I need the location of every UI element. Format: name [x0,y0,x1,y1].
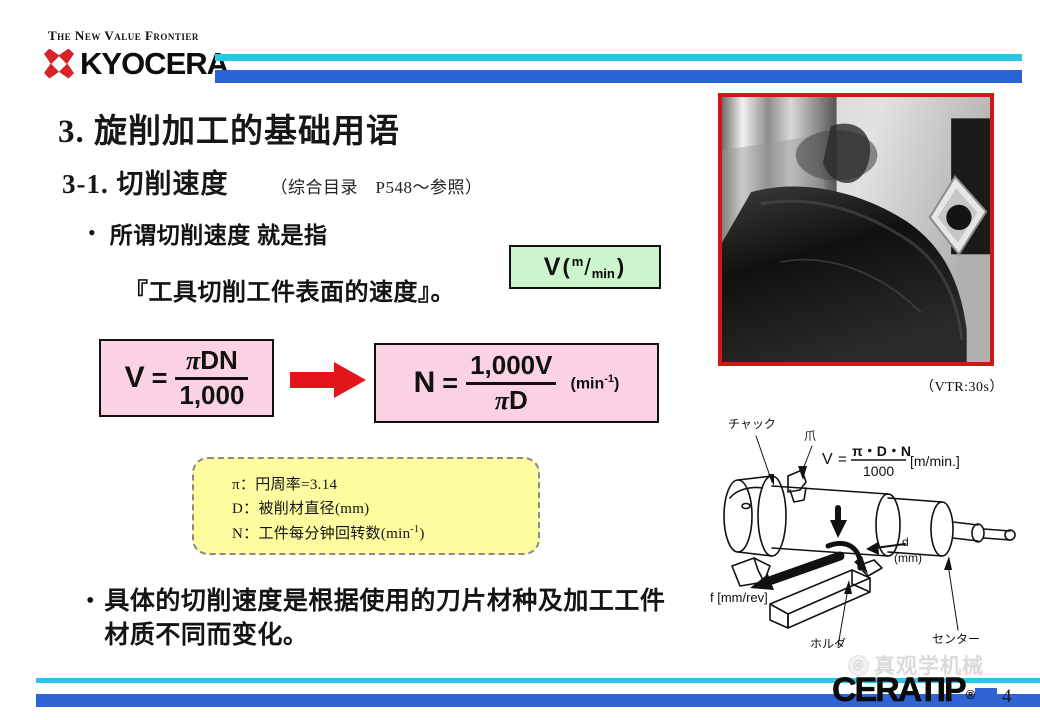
kyocera-diamond-icon [44,49,74,79]
formula-n-fraction: 1,000V πD [466,352,556,414]
unit-fraction: m / min [572,254,615,281]
formula-v-numerator-rest: DN [200,345,238,375]
legend-description: 工件每分钟回转数(min [258,526,410,542]
kyocera-tagline: The New Value Frontier [48,28,199,44]
photo-caption: （VTR:30s） [892,376,1032,396]
bullet-block-top: • 所谓切削速度 就是指 『工具切削工件表面的速度』。 [88,216,518,307]
formula-n-equals: = [442,368,458,399]
legend-line-n: N：工件每分钟回转数(min-1) [232,522,538,546]
formula-v-lhs: V [125,361,145,395]
legend-separator: ： [243,501,258,517]
subtitle: 3-1. 切削速度 [62,162,229,201]
paren-open: ( [562,254,569,280]
paren-close: ) [617,254,624,280]
formula-n-unit-close: ) [614,375,619,392]
header-bar-cyan [215,54,1022,61]
velocity-symbol: V [544,253,561,282]
ceratip-logo: CERATIP ® [832,676,975,705]
legend-tail: ) [419,526,424,542]
unit-denominator: min [592,266,615,281]
kyocera-wordmark: KYOCERA [80,48,228,79]
turning-operation-photo [718,93,994,366]
page-title: 3. 旋削加工的基础用语 [58,104,400,152]
diagram-formula-lhs: V [822,451,833,468]
bullet-top-line1: 所谓切削速度 就是指 [110,216,328,250]
diagram-label-center: センター [932,632,980,646]
diagram-label-chuck: チャック [728,417,776,431]
diagram-formula-unit: [m/min.] [910,453,960,469]
legend-line-d: D：被削材直径(mm) [232,497,538,521]
header-bar-blue [215,70,1022,83]
formula-n-numerator: 1,000V [466,352,556,379]
formula-n-denominator-rest: D [509,385,528,415]
red-right-arrow-icon [290,362,366,398]
arrow-shaft [290,372,338,388]
legend-exponent: -1 [410,524,419,535]
legend-separator: ： [243,526,258,542]
formula-n-lhs: N [414,366,436,400]
registered-trademark-icon: ® [966,687,976,705]
diagram-formula-numerator: π・D・N [852,443,911,459]
formula-v-denominator: 1,000 [175,382,248,409]
formula-n-unit: (min-1) [570,373,619,393]
formula-v-fraction: πDN 1,000 [175,347,248,409]
bullet-bottom-text: 具体的切削速度是根据使用的刀片材种及加工工件材质不同而变化。 [104,585,686,653]
diagram-formula-denominator: 1000 [863,463,894,479]
ceratip-blue-square [975,688,997,703]
bullet-marker: • [88,216,96,244]
formula-v-equals: = [152,363,168,394]
formula-n-unit-exponent: -1 [604,373,614,385]
formula-box-spindle-speed: N = 1,000V πD (min-1) [374,343,659,423]
symbol-legend-box: π：円周率=3.14 D：被削材直径(mm) N：工件每分钟回转数(min-1) [192,457,540,555]
photo-graphic [722,97,990,362]
diagram-label-jaw: 爪 [804,429,816,443]
formula-n-denominator: πD [491,387,532,414]
schematic-graphic: V = π・D・N 1000 [m/min.] チャック 爪 ホルダ センター … [710,398,1035,648]
ceratip-wordmark: CERATIP [832,676,965,705]
arrow-head [334,362,366,398]
diagram-label-diameter: d [902,535,909,549]
pi-symbol: π [495,386,509,415]
diagram-label-diameter-unit: (mm) [894,551,922,565]
unit-numerator: m [572,254,584,269]
legend-separator: ： [240,477,255,493]
legend-description: 円周率=3.14 [255,477,337,493]
diagram-formula-equals: = [838,451,847,468]
unit-slash: / [584,254,590,281]
velocity-unit-box: V ( m / min ) [509,245,661,289]
lathe-turning-schematic: V = π・D・N 1000 [m/min.] チャック 爪 ホルダ センター … [710,398,1035,648]
legend-description: 被削材直径(mm) [258,501,369,517]
slide-root: The New Value Frontier KYOCERA 3. 旋削加工的基… [0,0,1040,720]
formula-box-cutting-speed: V = πDN 1,000 [99,339,274,417]
subtitle-row: 3-1. 切削速度 （综合目录 P548～参照） [62,162,482,201]
kyocera-logo: KYOCERA [44,48,228,79]
formula-v-numerator: πDN [182,347,242,374]
bullet-marker: • [86,585,94,613]
bullet-top-row: • 所谓切削速度 就是指 [88,216,518,250]
legend-line-pi: π：円周率=3.14 [232,473,538,497]
bullet-block-bottom: • 具体的切削速度是根据使用的刀片材种及加工工件材质不同而变化。 [86,585,686,653]
page-number: 4 [1002,686,1012,708]
formula-n-unit-open: (min [570,375,604,392]
diagram-label-feed: f [mm/rev] [710,590,768,605]
subtitle-reference: （综合目录 P548～参照） [271,173,483,198]
bullet-top-line2: 『工具切削工件表面的速度』。 [124,272,518,307]
legend-symbol: N [232,526,243,542]
legend-symbol: D [232,501,243,517]
pi-symbol: π [186,346,200,375]
diagram-label-holder: ホルダ [810,636,846,648]
legend-symbol: π [232,477,240,493]
